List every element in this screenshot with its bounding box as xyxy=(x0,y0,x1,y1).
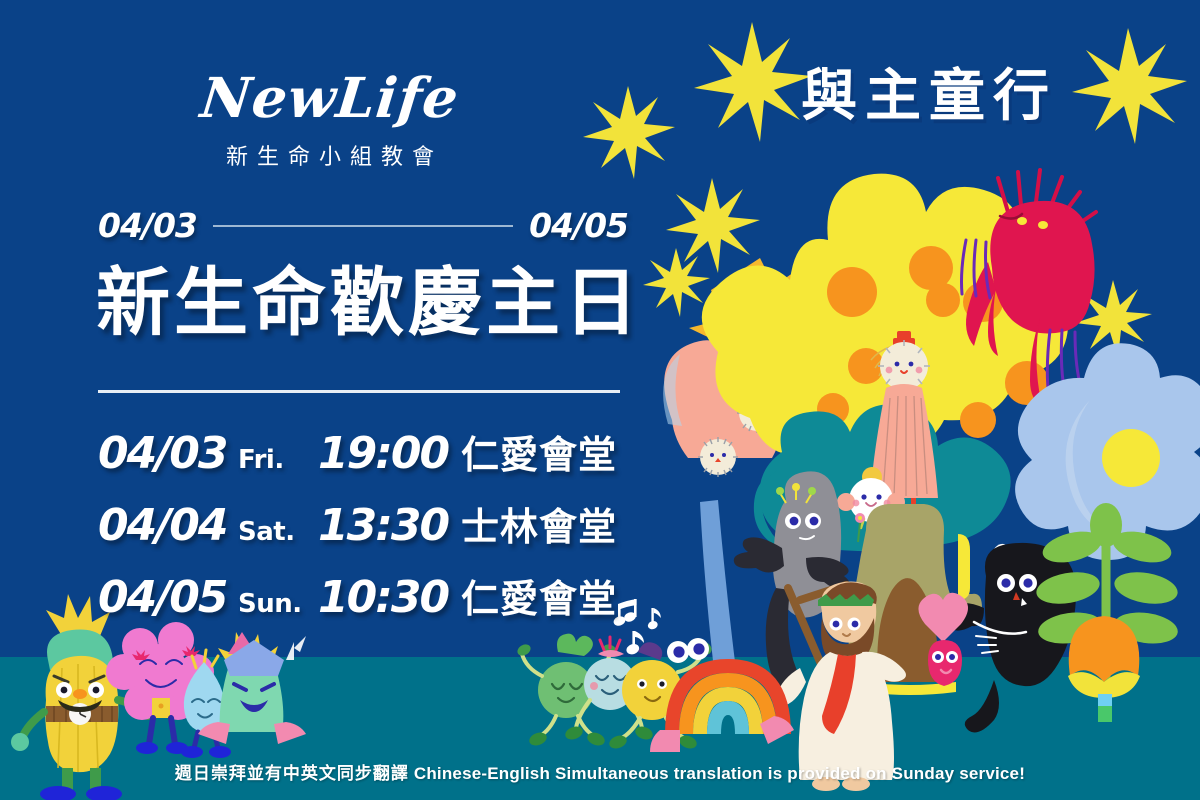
star-top-right xyxy=(1072,28,1187,144)
red-spiky-monster xyxy=(962,170,1097,406)
schedule-row: 04/05 Sun. 10:30 仁愛會堂 xyxy=(98,568,638,640)
schedule-weekday: Sun. xyxy=(238,589,318,619)
schedule-venue: 仁愛會堂 xyxy=(461,424,617,479)
blue-flower xyxy=(1015,343,1200,560)
schedule-venue: 仁愛會堂 xyxy=(461,568,617,623)
schedule-date: 04/04 xyxy=(98,500,238,551)
footer-caption-english: Chinese-English Simultaneous translation… xyxy=(414,764,1025,783)
page-title: 新生命歡慶主日 xyxy=(96,266,642,340)
small-flower-right xyxy=(855,513,865,542)
schedule-time: 13:30 xyxy=(318,500,461,551)
left-text-column: NewLife 新生命小組教會 04/03 04/05 新生命歡慶主日 04/0… xyxy=(0,0,660,800)
star-tiny xyxy=(666,178,760,273)
date-range-start: 04/03 xyxy=(98,206,197,245)
schedule-date: 04/03 xyxy=(98,428,238,479)
footer-caption: 週日崇拜並有中英文同步翻譯 Chinese-English Simultaneo… xyxy=(0,759,1200,784)
daisy-character-2 xyxy=(698,437,738,477)
schedule-time: 19:00 xyxy=(318,428,461,479)
date-range-end: 04/05 xyxy=(529,206,628,245)
daisy-character-1 xyxy=(737,393,777,433)
flower-stem xyxy=(700,500,736,670)
schedule-weekday: Fri. xyxy=(238,445,318,475)
kicker-title: 與主童行 xyxy=(801,68,1057,124)
white-cloud-creature xyxy=(837,467,905,528)
fairy-character xyxy=(870,331,938,530)
brand-wordmark: NewLife xyxy=(198,70,462,125)
pink-flower xyxy=(663,338,795,477)
date-range: 04/03 04/05 xyxy=(98,206,628,245)
schedule-date: 04/05 xyxy=(98,572,238,623)
tiny-flowers xyxy=(776,483,816,503)
sun-character xyxy=(689,258,830,395)
yellow-tree-canopy xyxy=(702,174,1068,466)
brand-chinese-name: 新生命小組教會 xyxy=(0,139,660,171)
schedule-weekday: Sat. xyxy=(238,517,318,547)
schedule-row: 04/03 Fri. 19:00 仁愛會堂 xyxy=(98,424,638,496)
teal-leaf-canopy xyxy=(754,404,1011,554)
event-poster: 與主童行 NewLife 新生命小組教會 04/03 04/05 新生命歡慶主日… xyxy=(0,0,1200,800)
footer-caption-chinese: 週日崇拜並有中英文同步翻譯 xyxy=(175,764,409,783)
title-divider xyxy=(98,390,620,393)
schedule-venue: 士林會堂 xyxy=(461,496,617,551)
date-range-rule xyxy=(213,225,513,227)
star-large xyxy=(694,22,812,142)
schedule-list: 04/03 Fri. 19:00 仁愛會堂 04/04 Sat. 13:30 士… xyxy=(98,424,638,640)
schedule-row: 04/04 Sat. 13:30 士林會堂 xyxy=(98,496,638,568)
schedule-time: 10:30 xyxy=(318,572,461,623)
star-right-mid xyxy=(1075,280,1152,358)
brand-logo: NewLife 新生命小組教會 xyxy=(0,70,660,171)
